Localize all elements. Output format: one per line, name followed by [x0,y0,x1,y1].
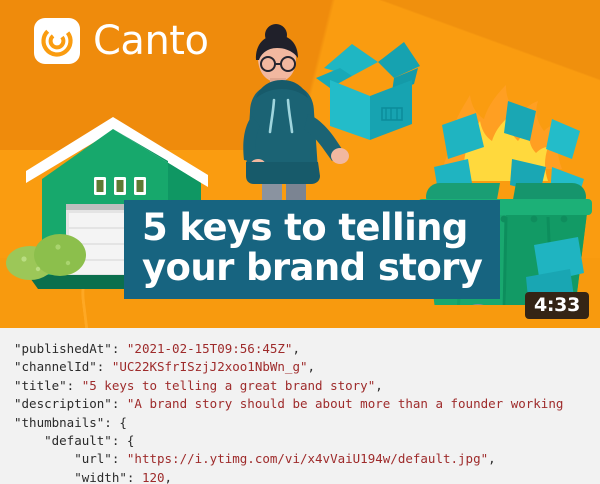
video-duration-badge: 4:33 [525,292,589,319]
json-value: "5 keys to telling a great brand story" [82,378,376,393]
json-key: "url": [14,451,127,466]
video-thumbnail[interactable]: Canto [0,0,600,328]
json-code-line: "description": "A brand story should be … [0,395,600,413]
json-key: "title": [14,378,82,393]
json-code-line: "width": 120, [0,469,600,484]
canto-logo: Canto [34,18,208,64]
json-key: "default": [14,433,127,448]
json-punctuation: { [119,415,127,430]
json-code-line: "channelId": "UC22KSfrISzjJ2xoo1NbWn_g", [0,358,600,376]
thumbnail-title-line-1: 5 keys to telling [142,208,482,248]
json-punctuation: { [127,433,135,448]
json-value: "UC22KSfrISzjJ2xoo1NbWn_g" [112,359,308,374]
canto-c-logomark-icon [34,18,80,64]
json-key: "description": [14,396,127,411]
json-code-line: "default": { [0,432,600,450]
json-punctuation: , [488,451,496,466]
json-value: "https://i.ytimg.com/vi/x4vVaiU194w/defa… [127,451,488,466]
thumbnail-title-banner: 5 keys to telling your brand story [124,200,500,299]
json-code-line: "title": "5 keys to telling a great bran… [0,377,600,395]
json-value: "2021-02-15T09:56:45Z" [127,341,293,356]
thumbnail-title-line-2: your brand story [142,248,482,288]
json-punctuation: , [292,341,300,356]
json-metadata-panel: "publishedAt": "2021-02-15T09:56:45Z","c… [0,328,600,484]
json-key: "thumbnails": [14,415,119,430]
json-code-line: "url": "https://i.ytimg.com/vi/x4vVaiU19… [0,450,600,468]
json-key: "width": [14,470,142,484]
json-value: "A brand story should be about more than… [127,396,564,411]
json-punctuation: , [308,359,316,374]
json-punctuation: , [165,470,173,484]
json-code-line: "thumbnails": { [0,414,600,432]
json-punctuation: , [375,378,383,393]
json-value: 120 [142,470,165,484]
json-code-block: "publishedAt": "2021-02-15T09:56:45Z","c… [0,340,600,484]
canto-wordmark: Canto [93,21,208,61]
json-key: "channelId": [14,359,112,374]
json-key: "publishedAt": [14,341,127,356]
bushes-illustration [6,225,90,286]
json-code-line: "publishedAt": "2021-02-15T09:56:45Z", [0,340,600,358]
video-metadata-preview: Canto [0,0,600,484]
